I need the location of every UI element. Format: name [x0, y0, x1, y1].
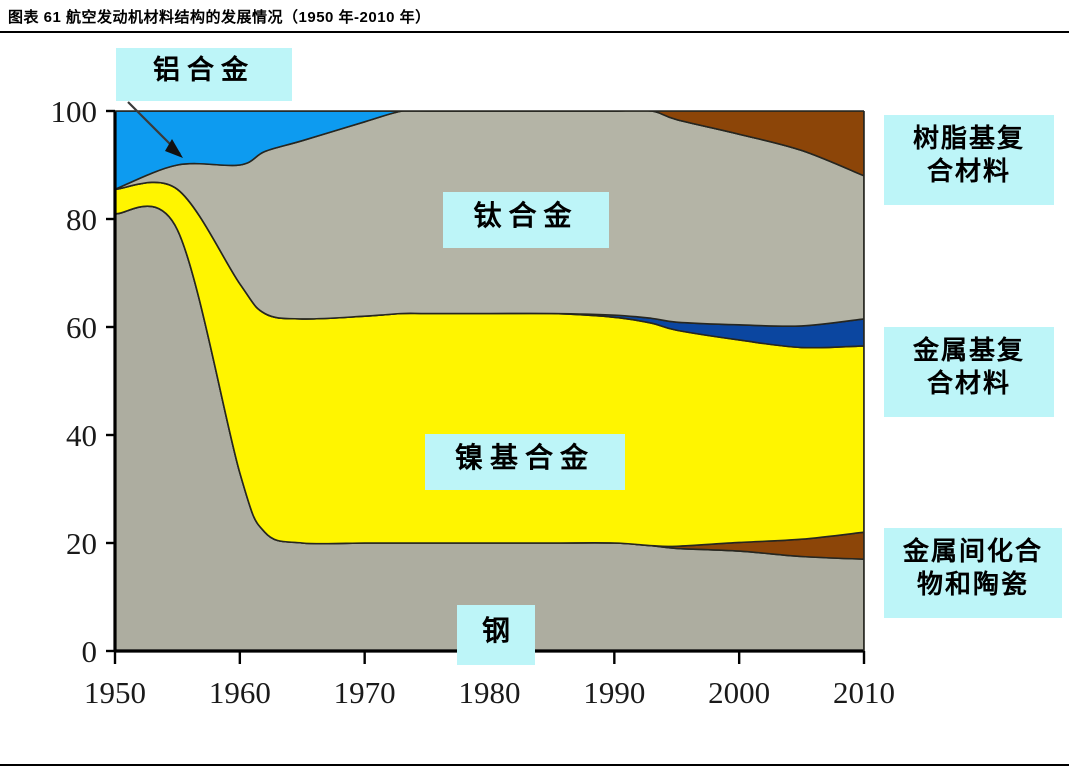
- y-tick-label: 40: [66, 418, 97, 453]
- x-tick-label: 2000: [708, 675, 770, 710]
- y-tick-label: 20: [66, 526, 97, 561]
- callout-aluminum-alloy: 铝合金: [116, 48, 292, 101]
- x-tick-label: 1950: [84, 675, 146, 710]
- x-tick-label: 1980: [459, 675, 521, 710]
- callout-resin-matrix-composite: 树脂基复 合材料: [884, 115, 1054, 205]
- y-tick-label: 60: [66, 310, 97, 345]
- callout-metal-matrix-composite: 金属基复 合材料: [884, 327, 1054, 417]
- callout-nickel-based-alloy: 镍基合金: [425, 434, 625, 490]
- x-tick-label: 1990: [583, 675, 645, 710]
- title-divider-bottom: [0, 764, 1069, 766]
- y-tick-label: 80: [66, 202, 97, 237]
- y-tick-label: 0: [82, 634, 98, 669]
- x-tick-label: 1960: [209, 675, 271, 710]
- x-tick-label: 2010: [833, 675, 895, 710]
- y-tick-label: 100: [51, 94, 98, 129]
- callout-steel: 钢: [457, 605, 535, 665]
- title-divider-top: [0, 31, 1069, 33]
- page-title: 图表 61 航空发动机材料结构的发展情况（1950 年-2010 年）: [8, 6, 431, 27]
- callout-intermetallic-ceramic: 金属间化合 物和陶瓷: [884, 528, 1062, 618]
- callout-titanium-alloy: 钛合金: [443, 192, 609, 248]
- x-tick-label: 1970: [334, 675, 396, 710]
